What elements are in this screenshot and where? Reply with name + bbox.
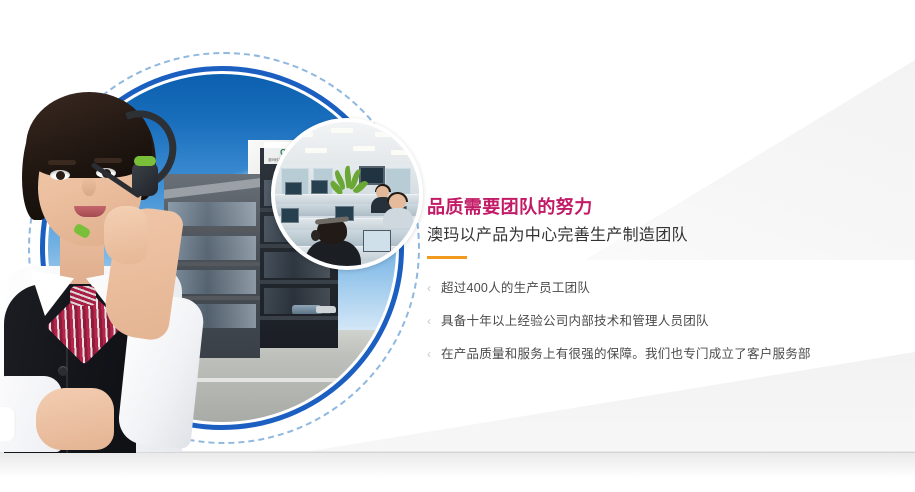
ceiling-light-icon xyxy=(375,132,397,137)
agent-eyebrow xyxy=(48,160,76,165)
tower-floor-slab xyxy=(260,316,338,320)
ceiling-light-icon xyxy=(331,128,353,133)
chevron-left-icon: ‹ xyxy=(427,348,441,360)
agent-cravat-knot xyxy=(70,286,96,306)
accent-divider xyxy=(427,256,467,259)
computer-monitor xyxy=(281,208,299,223)
list-item: ‹ 具备十年以上经验公司内部技术和管理人员团队 xyxy=(427,314,887,329)
page-subtitle: 澳玛以产品为中心完善生产制造团队 xyxy=(427,226,887,247)
office-ceiling xyxy=(275,122,419,168)
headset-earpiece-accent xyxy=(134,156,156,166)
agent-hand-raised xyxy=(104,206,148,264)
banner-content: 品质需要团队的努力 澳玛以产品为中心完善生产制造团队 ‹ 超过400人的生产员工… xyxy=(427,196,887,362)
office-worker-foreground xyxy=(303,212,363,266)
agent-eye xyxy=(50,170,70,180)
list-item-label: 在产品质量和服务上有很强的保障。我们也专门成立了客户服务部 xyxy=(441,347,811,362)
office-worker-body xyxy=(383,208,413,228)
team-quality-banner: OMA 澳玛科技 xyxy=(0,0,915,492)
agent-nose xyxy=(82,176,96,196)
office-worker-body xyxy=(305,240,361,268)
agent-pupil xyxy=(56,171,65,180)
page-title: 品质需要团队的努力 xyxy=(427,196,887,219)
list-item-label: 具备十年以上经验公司内部技术和管理人员团队 xyxy=(441,314,709,329)
agent-hand-lower xyxy=(36,388,114,450)
ceiling-light-icon xyxy=(391,150,413,155)
chevron-left-icon: ‹ xyxy=(427,282,441,294)
parked-car xyxy=(316,306,336,313)
computer-monitor xyxy=(363,230,391,252)
vest-button xyxy=(58,366,68,376)
baseline-mask xyxy=(0,453,915,492)
office-worker xyxy=(381,194,415,228)
feature-list: ‹ 超过400人的生产员工团队 ‹ 具备十年以上经验公司内部技术和管理人员团队 … xyxy=(427,281,887,362)
tower-floor-slab xyxy=(260,280,338,284)
ceiling-light-icon xyxy=(353,146,375,151)
list-item: ‹ 超过400人的生产员工团队 xyxy=(427,281,887,296)
chevron-left-icon: ‹ xyxy=(427,315,441,327)
headset-earpiece-icon xyxy=(311,230,320,241)
ceiling-light-icon xyxy=(291,132,313,137)
list-item: ‹ 在产品质量和服务上有很强的保障。我们也专门成立了客户服务部 xyxy=(427,347,887,362)
computer-monitor xyxy=(285,182,302,195)
ceiling-light-icon xyxy=(305,148,327,153)
call-center-office-photo xyxy=(271,118,423,270)
agent-shirt-cuff xyxy=(0,406,16,442)
computer-monitor xyxy=(311,180,328,194)
list-item-label: 超过400人的生产员工团队 xyxy=(441,281,590,296)
customer-service-agent-photo xyxy=(0,58,222,454)
